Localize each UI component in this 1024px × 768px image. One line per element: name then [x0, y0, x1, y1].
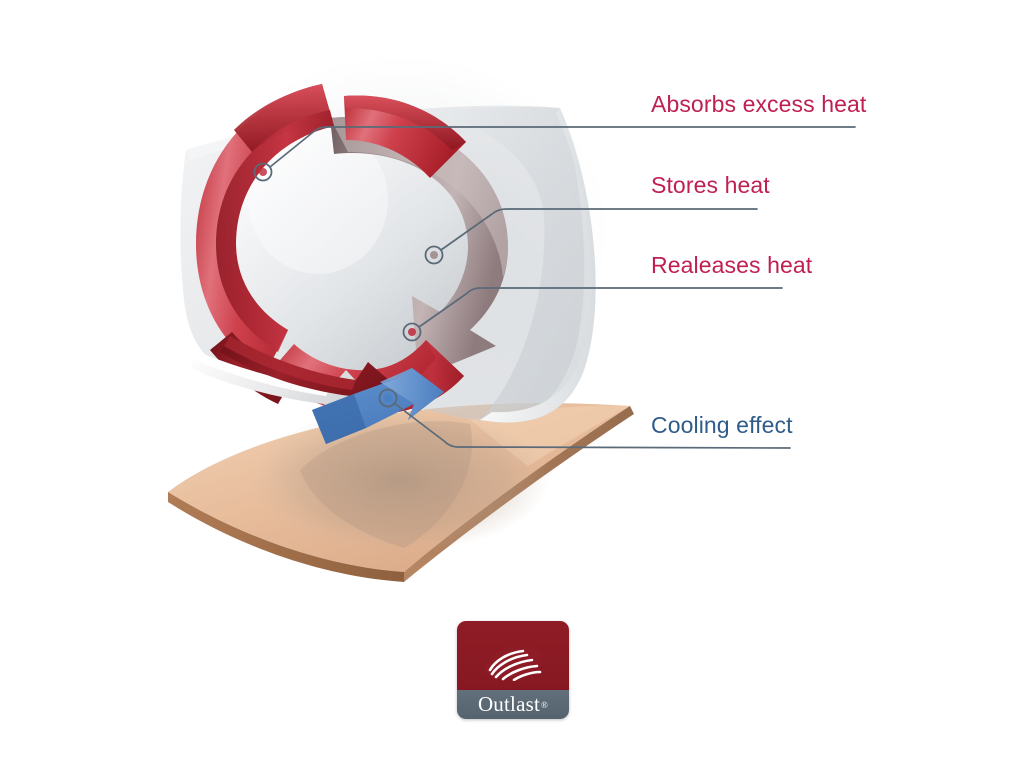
registered-trademark-mark: ® — [541, 700, 548, 710]
callout-label-cooling-effect: Cooling effect — [651, 414, 793, 437]
outlast-swoosh-icon — [481, 641, 545, 681]
callout-label-releases-heat: Realeases heat — [651, 254, 812, 277]
callout-label-stores-heat: Stores heat — [651, 174, 770, 197]
logo-wordmark: Outlast® — [457, 690, 569, 719]
outlast-logo[interactable]: Outlast® — [457, 621, 569, 719]
diagram-canvas: Absorbs excess heat Stores heat Realease… — [0, 0, 1024, 768]
skin-surface — [168, 403, 634, 582]
logo-brand-text: Outlast — [478, 692, 540, 717]
callout-label-absorbs-excess-heat: Absorbs excess heat — [651, 93, 866, 116]
